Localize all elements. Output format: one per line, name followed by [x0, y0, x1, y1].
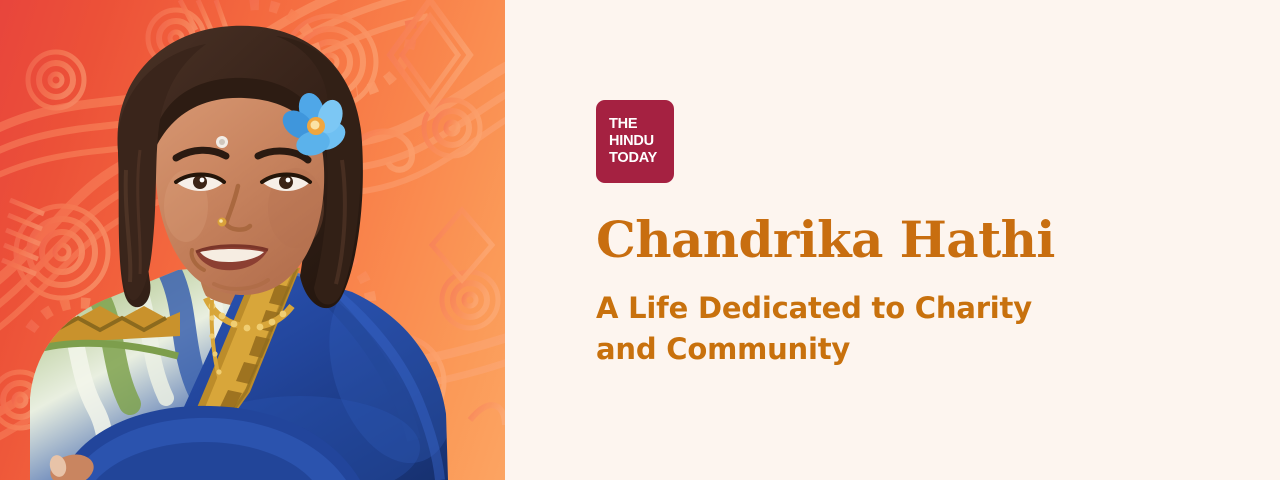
page-subtitle-line-2: and Community	[596, 329, 1046, 370]
subject-portrait-photo	[0, 0, 505, 480]
page-title: Chandrika Hathi	[596, 215, 1280, 265]
page-subtitle-line-1: A Life Dedicated to Charity	[596, 288, 1046, 329]
article-banner: THE HINDU TODAY Chandrika Hathi A Life D…	[0, 0, 1280, 480]
portrait-panel	[0, 0, 505, 480]
page-subtitle: A Life Dedicated to Charity and Communit…	[596, 288, 1046, 370]
brand-logo-line-3: TODAY	[609, 150, 674, 167]
content-panel: THE HINDU TODAY Chandrika Hathi A Life D…	[505, 0, 1280, 480]
brand-logo-line-1: THE	[609, 116, 674, 133]
brand-logo[interactable]: THE HINDU TODAY	[596, 100, 674, 183]
brand-logo-line-2: HINDU	[609, 133, 674, 150]
